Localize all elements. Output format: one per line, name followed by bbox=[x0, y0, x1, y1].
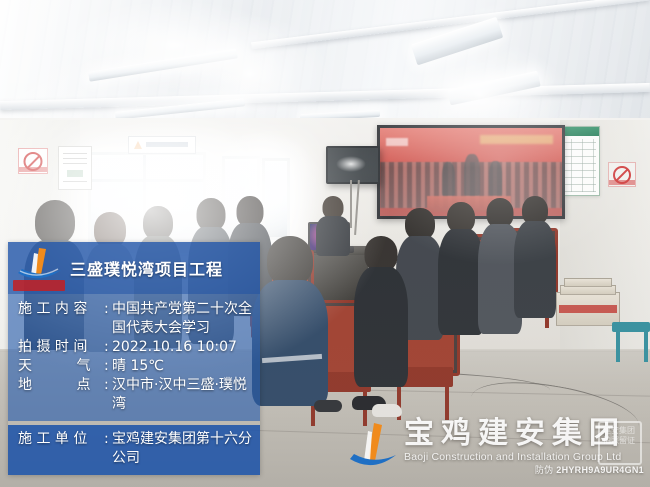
info-panel: 三盛璞悦湾项目工程 施 工 内 容 : 中国共产党第二十次全国代表大会学习 拍 … bbox=[8, 242, 260, 475]
stool-leg bbox=[644, 332, 648, 362]
info-row-weather: 天 气 : 晴 15℃ bbox=[18, 357, 252, 376]
watermark-code: 防伪 2HYRH9A9UR4GN1 bbox=[404, 464, 644, 476]
watermark-seal: 建安集团 拍照留证 bbox=[598, 421, 642, 465]
wall-notice-paper bbox=[58, 146, 92, 190]
info-value: 晴 15℃ bbox=[112, 357, 252, 376]
info-label: 天 气 bbox=[18, 357, 104, 376]
info-label: 施 工 单 位 bbox=[18, 430, 104, 449]
info-row-unit: 施 工 单 位 : 宝鸡建安集团第十六分公司 bbox=[18, 430, 252, 468]
no-smoking-label bbox=[19, 167, 47, 172]
info-colon: : bbox=[104, 300, 112, 319]
person-body bbox=[252, 280, 328, 406]
info-panel-footer: 施 工 单 位 : 宝鸡建安集团第十六分公司 bbox=[8, 425, 260, 475]
stool-leg bbox=[616, 332, 620, 362]
box bbox=[556, 292, 620, 326]
info-value: 2022.10.16 10:07 bbox=[112, 338, 252, 357]
info-row-content: 施 工 内 容 : 中国共产党第二十次全国代表大会学习 bbox=[18, 300, 252, 338]
notice-line bbox=[63, 163, 87, 164]
prohibition-slash-icon bbox=[27, 155, 40, 168]
watermark-text-block: 宝鸡建安集团 Baoji Construction and Installati… bbox=[402, 417, 644, 476]
watermark-code-label: 防伪 bbox=[535, 465, 554, 475]
notice-stamp bbox=[67, 170, 82, 177]
watermark-code-value: 2HYRH9A9UR4GN1 bbox=[556, 465, 644, 475]
info-row-time: 拍 摄 时 间 : 2022.10.16 10:07 bbox=[18, 338, 252, 357]
info-colon: : bbox=[104, 357, 112, 376]
banner-text bbox=[146, 142, 188, 147]
watermark-logo-icon bbox=[344, 421, 402, 473]
person bbox=[514, 196, 556, 316]
chair-leg bbox=[445, 383, 449, 420]
box-label bbox=[559, 305, 616, 313]
info-value: 汉中市·汉中三盛·璞悦湾 bbox=[112, 376, 252, 414]
notice-board-table bbox=[560, 139, 596, 192]
window-banner bbox=[128, 136, 196, 154]
company-logo-icon bbox=[8, 244, 70, 292]
monitor-glare bbox=[336, 156, 366, 172]
plastic-stool bbox=[612, 322, 650, 332]
info-label: 地 点 bbox=[18, 376, 104, 395]
monitor-cable bbox=[350, 180, 352, 228]
notice-line bbox=[63, 158, 87, 159]
company-logo-text bbox=[13, 280, 65, 291]
banner-logo-icon bbox=[134, 141, 142, 149]
info-panel-body: 施 工 内 容 : 中国共产党第二十次全国代表大会学习 拍 摄 时 间 : 20… bbox=[8, 294, 260, 421]
no-smoking-label bbox=[609, 180, 635, 185]
box-stack bbox=[564, 278, 612, 287]
info-colon: : bbox=[104, 430, 112, 449]
info-panel-title-bar: 三盛璞悦湾项目工程 bbox=[8, 242, 260, 294]
info-row-location: 地 点 : 汉中市·汉中三盛·璞悦湾 bbox=[18, 376, 252, 414]
person-head bbox=[35, 200, 75, 244]
info-colon: : bbox=[104, 338, 112, 357]
info-value: 中国共产党第二十次全国代表大会学习 bbox=[112, 300, 252, 338]
info-label: 施 工 内 容 bbox=[18, 300, 104, 319]
notice-line bbox=[63, 181, 87, 182]
corner-watermark: 宝鸡建安集团 Baoji Construction and Installati… bbox=[344, 417, 644, 483]
person bbox=[354, 236, 408, 386]
shoe bbox=[372, 404, 402, 417]
photo-canvas: 三盛璞悦湾项目工程 施 工 内 容 : 中国共产党第二十次全国代表大会学习 拍 … bbox=[0, 0, 650, 487]
wall-monitor bbox=[326, 146, 380, 184]
window-mullion bbox=[91, 179, 203, 182]
person-head bbox=[143, 206, 173, 240]
person-body bbox=[514, 221, 556, 318]
no-smoking-sign bbox=[18, 148, 48, 174]
person-foreground bbox=[252, 236, 328, 404]
info-colon: : bbox=[104, 376, 112, 395]
shoe bbox=[314, 400, 342, 412]
cardboard-boxes bbox=[556, 292, 618, 324]
project-title: 三盛璞悦湾项目工程 bbox=[70, 256, 223, 280]
info-value: 宝鸡建安集团第十六分公司 bbox=[112, 430, 252, 468]
notice-line bbox=[63, 153, 87, 154]
no-smoking-sign-right bbox=[608, 162, 636, 187]
person-head bbox=[267, 236, 313, 286]
info-label: 拍 摄 时 间 bbox=[18, 338, 104, 357]
person-body bbox=[354, 267, 408, 387]
